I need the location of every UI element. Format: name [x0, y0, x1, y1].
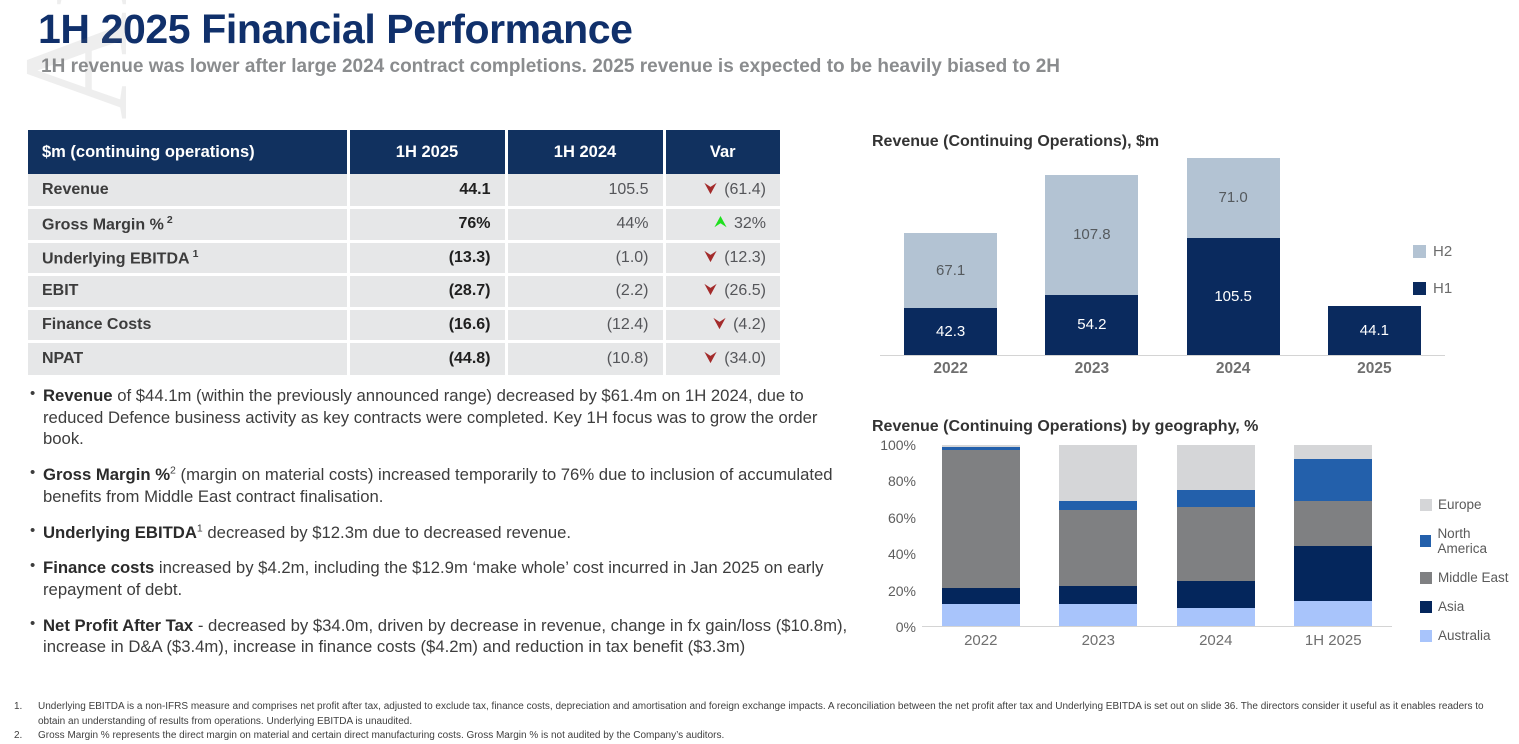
- geography-segment-australia: [942, 604, 1020, 626]
- revenue-stacked-bar: 71.0105.5: [1187, 158, 1280, 355]
- legend-label: Asia: [1438, 599, 1464, 614]
- geography-x-tick-label: 2022: [922, 632, 1040, 649]
- cell-1h-2024: (10.8): [506, 342, 664, 376]
- legend-item-middle-east[interactable]: Middle East: [1420, 570, 1519, 585]
- revenue-bar-column: 71.0105.5: [1163, 160, 1304, 355]
- cell-metric-label: Revenue: [28, 174, 348, 208]
- geography-x-axis-labels: 2022202320241H 2025: [922, 632, 1392, 649]
- bullet-item: Net Profit After Tax - decreased by $34.…: [30, 615, 860, 658]
- legend-swatch-icon: [1420, 630, 1432, 642]
- cell-variance: (61.4): [664, 174, 780, 208]
- legend-swatch-icon: [1413, 245, 1426, 258]
- cell-variance: (4.2): [664, 308, 780, 342]
- bullet-item: Revenue of $44.1m (within the previously…: [30, 385, 860, 450]
- geography-segment-asia: [1059, 586, 1137, 604]
- footnote-text: Gross Margin % represents the direct mar…: [38, 729, 1509, 744]
- geography-segment-australia: [1294, 601, 1372, 626]
- revenue-chart-title: Revenue (Continuing Operations), $m: [872, 133, 1159, 151]
- cell-1h-2025: 44.1: [348, 174, 506, 208]
- revenue-bar-column: 107.854.2: [1021, 160, 1162, 355]
- legend-label: Europe: [1438, 497, 1482, 512]
- geography-segment-north-america: [1177, 490, 1255, 506]
- bullet-item: Gross Margin %2 (margin on material cost…: [30, 464, 860, 507]
- footnote-number: 2.: [14, 729, 38, 744]
- col-header-1h-2024: 1H 2024: [506, 130, 664, 174]
- geography-segment-australia: [1059, 604, 1137, 626]
- revenue-bar-column: 67.142.3: [880, 160, 1021, 355]
- geography-segment-middle-east: [942, 450, 1020, 588]
- arrow-down-icon: [703, 350, 718, 365]
- geography-y-tick-label: 60%: [888, 510, 916, 526]
- geography-stacked-bar: [1177, 445, 1255, 626]
- geography-x-tick-label: 1H 2025: [1275, 632, 1393, 649]
- geography-stacked-bar: [1294, 445, 1372, 626]
- page-subtitle: 1H revenue was lower after large 2024 co…: [41, 56, 1060, 78]
- geography-segment-asia: [1177, 581, 1255, 608]
- legend-label: Middle East: [1438, 570, 1509, 585]
- geography-chart-legend: EuropeNorth AmericaMiddle EastAsiaAustra…: [1420, 497, 1519, 657]
- cell-1h-2025: (13.3): [348, 241, 506, 275]
- legend-item-europe[interactable]: Europe: [1420, 497, 1519, 512]
- bullet-item: Underlying EBITDA1 decreased by $12.3m d…: [30, 522, 860, 544]
- legend-swatch-icon: [1413, 282, 1426, 295]
- cell-1h-2025: 76%: [348, 208, 506, 242]
- geography-y-tick-label: 40%: [888, 546, 916, 562]
- revenue-plot-area: 67.142.3107.854.271.0105.544.1: [880, 160, 1445, 356]
- cell-1h-2024: 105.5: [506, 174, 664, 208]
- cell-metric-label: Gross Margin %2: [28, 208, 348, 242]
- footnotes-section: 1.Underlying EBITDA is a non-IFRS measur…: [14, 700, 1509, 744]
- revenue-segment-h1: 105.5: [1187, 238, 1280, 355]
- footnote-number: 1.: [14, 700, 38, 729]
- cell-variance: 32%: [664, 208, 780, 242]
- legend-swatch-icon: [1420, 499, 1432, 511]
- geography-segment-asia: [1294, 546, 1372, 600]
- arrow-up-icon: [713, 215, 728, 230]
- geography-y-tick-label: 80%: [888, 473, 916, 489]
- revenue-segment-h1: 54.2: [1045, 295, 1138, 355]
- table-row: Gross Margin %276%44%32%: [28, 208, 780, 242]
- legend-label: H2: [1433, 243, 1452, 260]
- geography-stacked-bar: [1059, 445, 1137, 626]
- geography-y-tick-label: 20%: [888, 583, 916, 599]
- revenue-segment-h1: 44.1: [1328, 306, 1421, 355]
- revenue-x-tick-label: 2022: [880, 360, 1021, 378]
- legend-swatch-icon: [1420, 535, 1431, 547]
- geography-stacked-bar-chart: 0%20%40%60%80%100% 2022202320241H 2025: [872, 445, 1452, 660]
- revenue-stacked-bar: 44.1: [1328, 306, 1421, 355]
- geography-plot-area: [922, 445, 1392, 627]
- arrow-down-icon: [703, 181, 718, 196]
- cell-1h-2024: 44%: [506, 208, 664, 242]
- revenue-segment-h1: 42.3: [904, 308, 997, 355]
- revenue-segment-h2: 67.1: [904, 233, 997, 308]
- revenue-stacked-bar: 67.142.3: [904, 233, 997, 355]
- cell-metric-label: Underlying EBITDA1: [28, 241, 348, 275]
- legend-item-australia[interactable]: Australia: [1420, 628, 1519, 643]
- slide-canvas: Anonymous Copy 1H 2025 Financial Perform…: [0, 0, 1519, 744]
- revenue-x-tick-label: 2024: [1163, 360, 1304, 378]
- legend-item-north-america[interactable]: North America: [1420, 526, 1519, 556]
- geography-bar-column: [1157, 445, 1275, 626]
- geography-segment-australia: [1177, 608, 1255, 626]
- geography-segment-middle-east: [1294, 501, 1372, 546]
- legend-item-asia[interactable]: Asia: [1420, 599, 1519, 614]
- cell-metric-label: EBIT: [28, 275, 348, 309]
- cell-1h-2025: (16.6): [348, 308, 506, 342]
- geography-chart-title: Revenue (Continuing Operations) by geogr…: [872, 418, 1258, 436]
- geography-y-axis-labels: 0%20%40%60%80%100%: [872, 445, 916, 627]
- geography-segment-north-america: [1059, 501, 1137, 510]
- arrow-down-icon: [703, 249, 718, 264]
- arrow-down-icon: [712, 316, 727, 331]
- geography-segment-north-america: [1294, 459, 1372, 501]
- revenue-x-tick-label: 2023: [1021, 360, 1162, 378]
- table-row: NPAT(44.8)(10.8)(34.0): [28, 342, 780, 376]
- legend-label: H1: [1433, 280, 1452, 297]
- geography-segment-middle-east: [1177, 507, 1255, 581]
- table-row: Underlying EBITDA1(13.3)(1.0)(12.3): [28, 241, 780, 275]
- geography-segment-europe: [1294, 445, 1372, 459]
- cell-1h-2024: (2.2): [506, 275, 664, 309]
- geography-bar-column: [1040, 445, 1158, 626]
- table-row: Finance Costs(16.6)(12.4)(4.2): [28, 308, 780, 342]
- geography-segment-europe: [1177, 445, 1255, 490]
- revenue-stacked-bar: 107.854.2: [1045, 175, 1138, 355]
- cell-variance: (26.5): [664, 275, 780, 309]
- geography-segment-middle-east: [1059, 510, 1137, 586]
- geography-segment-europe: [1059, 445, 1137, 501]
- cell-1h-2025: (28.7): [348, 275, 506, 309]
- legend-swatch-icon: [1420, 601, 1432, 613]
- revenue-segment-h2: 71.0: [1187, 158, 1280, 237]
- geography-y-tick-label: 100%: [880, 437, 916, 453]
- table-row: Revenue44.1105.5(61.4): [28, 174, 780, 208]
- legend-item-h2[interactable]: H2: [1413, 243, 1452, 260]
- legend-item-h1[interactable]: H1: [1413, 280, 1452, 297]
- geography-stacked-bar: [942, 445, 1020, 626]
- footnote-item: 1.Underlying EBITDA is a non-IFRS measur…: [14, 700, 1509, 729]
- legend-label: North America: [1437, 526, 1519, 556]
- revenue-chart-legend: H2H1: [1413, 243, 1452, 317]
- commentary-bullets: Revenue of $44.1m (within the previously…: [30, 385, 860, 672]
- arrow-down-icon: [703, 282, 718, 297]
- geography-x-tick-label: 2023: [1040, 632, 1158, 649]
- legend-label: Australia: [1438, 628, 1491, 643]
- table-row: EBIT(28.7)(2.2)(26.5): [28, 275, 780, 309]
- geography-x-tick-label: 2024: [1157, 632, 1275, 649]
- page-title: 1H 2025 Financial Performance: [38, 6, 633, 53]
- cell-1h-2024: (1.0): [506, 241, 664, 275]
- footnote-item: 2.Gross Margin % represents the direct m…: [14, 729, 1509, 744]
- cell-variance: (34.0): [664, 342, 780, 376]
- geography-y-tick-label: 0%: [896, 619, 916, 635]
- cell-1h-2025: (44.8): [348, 342, 506, 376]
- bullet-item: Finance costs increased by $4.2m, includ…: [30, 557, 860, 600]
- cell-metric-label: NPAT: [28, 342, 348, 376]
- legend-swatch-icon: [1420, 572, 1432, 584]
- cell-1h-2024: (12.4): [506, 308, 664, 342]
- col-header-var: Var: [664, 130, 780, 174]
- revenue-x-tick-label: 2025: [1304, 360, 1445, 378]
- geography-bar-column: [1275, 445, 1393, 626]
- revenue-stacked-bar-chart: 67.142.3107.854.271.0105.544.1 202220232…: [872, 160, 1452, 370]
- revenue-x-axis-labels: 2022202320242025: [880, 360, 1445, 378]
- financial-summary-table: $m (continuing operations) 1H 2025 1H 20…: [28, 130, 780, 375]
- revenue-segment-h2: 107.8: [1045, 175, 1138, 295]
- footnote-text: Underlying EBITDA is a non-IFRS measure …: [38, 700, 1509, 729]
- col-header-metric: $m (continuing operations): [28, 130, 348, 174]
- cell-metric-label: Finance Costs: [28, 308, 348, 342]
- cell-variance: (12.3): [664, 241, 780, 275]
- geography-segment-asia: [942, 588, 1020, 604]
- geography-bar-column: [922, 445, 1040, 626]
- table-header-row: $m (continuing operations) 1H 2025 1H 20…: [28, 130, 780, 174]
- col-header-1h-2025: 1H 2025: [348, 130, 506, 174]
